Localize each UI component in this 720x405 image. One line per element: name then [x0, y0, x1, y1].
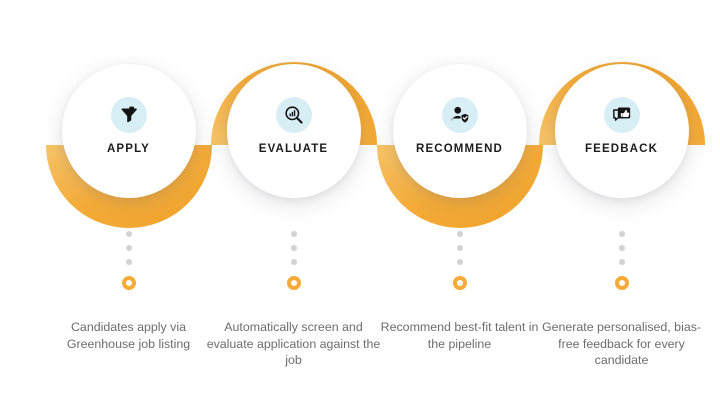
connector-ring-marker — [122, 276, 136, 290]
connector-ring-marker — [287, 276, 301, 290]
step-description: Generate personalised, bias-free feedbac… — [534, 319, 709, 369]
step-label: FEEDBACK — [585, 144, 658, 156]
connector-dot — [457, 231, 463, 237]
step-description: Recommend best-fit talent in the pipelin… — [372, 319, 547, 352]
connector-dot — [291, 259, 297, 265]
connector-dot — [457, 245, 463, 251]
connector-dot — [291, 245, 297, 251]
step-description: Candidates apply via Greenhouse job list… — [41, 319, 216, 352]
step-connector-dots-recommend — [450, 231, 470, 290]
step-label: EVALUATE — [259, 144, 328, 156]
thumbs-up-bubble-icon — [604, 97, 640, 133]
connector-dot — [126, 245, 132, 251]
connector-dot — [619, 245, 625, 251]
step-disc-evaluate[interactable]: EVALUATE — [227, 64, 361, 198]
step-disc-feedback[interactable]: FEEDBACK — [555, 64, 689, 198]
connector-dot — [126, 259, 132, 265]
process-step-apply: APPLY Candidates apply via Greenhouse jo… — [46, 0, 211, 405]
connector-dot — [126, 231, 132, 237]
process-flow-diagram: APPLY Candidates apply via Greenhouse jo… — [0, 0, 720, 405]
step-label: APPLY — [107, 144, 150, 156]
user-verified-icon — [442, 97, 478, 133]
connector-dot — [457, 259, 463, 265]
process-step-evaluate: EVALUATE Automatically screen and evalua… — [211, 0, 376, 405]
step-connector-dots-evaluate — [284, 231, 304, 290]
connector-ring-marker — [453, 276, 467, 290]
process-step-feedback: FEEDBACK Generate personalised, bias-fre… — [539, 0, 704, 405]
step-disc-apply[interactable]: APPLY — [62, 64, 196, 198]
connector-dot — [619, 259, 625, 265]
step-disc-recommend[interactable]: RECOMMEND — [393, 64, 527, 198]
step-connector-dots-feedback — [612, 231, 632, 290]
connector-dot — [619, 231, 625, 237]
process-step-recommend: RECOMMEND Recommend best-fit talent in t… — [377, 0, 542, 405]
connector-ring-marker — [615, 276, 629, 290]
connector-dot — [291, 231, 297, 237]
magnifier-chart-icon — [276, 97, 312, 133]
step-label: RECOMMEND — [416, 144, 503, 156]
step-connector-dots-apply — [119, 231, 139, 290]
funnel-icon — [111, 97, 147, 133]
step-description: Automatically screen and evaluate applic… — [206, 319, 381, 369]
